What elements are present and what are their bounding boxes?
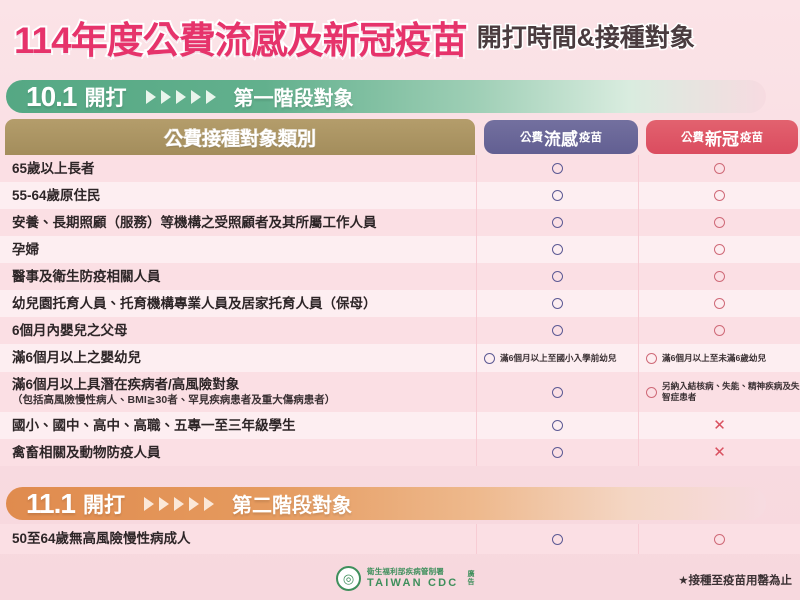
flu-suffix: 疫苗 <box>579 129 602 145</box>
cell-covid <box>638 317 800 344</box>
cell-category: 國小、國中、高中、高職、五專一至三年級學生 <box>0 418 476 434</box>
stage-2-arrows <box>144 497 214 511</box>
cell-flu <box>476 290 638 317</box>
column-header-category: 公費接種對象類別 <box>5 119 475 155</box>
footer: ◎ 衛生福利部疾病管制署 TAIWAN CDC 廣 告 ★接種至疫苗用罄為止 <box>0 560 800 600</box>
arrow-icon <box>191 90 201 104</box>
table-row: 孕婦 <box>0 236 800 263</box>
column-header-category-label: 公費接種對象類別 <box>164 124 316 151</box>
category-label: 國小、國中、高中、高職、五專一至三年級學生 <box>12 418 470 434</box>
arrow-icon <box>159 497 169 511</box>
table-row: 醫事及衛生防疫相關人員 <box>0 263 800 290</box>
ad-tag: 廣 告 <box>467 571 474 586</box>
stage-1-open-label: 開打 <box>85 82 127 112</box>
cell-covid <box>638 263 800 290</box>
title-subtitle: 開打時間&接種對象 <box>477 18 695 54</box>
cdc-logo-cn: 衛生福利部疾病管制署 <box>367 568 458 576</box>
table-row: 幼兒園托育人員、托育機構專業人員及居家托育人員（保母） <box>0 290 800 317</box>
category-label: 醫事及衛生防疫相關人員 <box>12 269 470 285</box>
cross-icon: ✕ <box>713 445 726 460</box>
cell-covid <box>638 524 800 554</box>
category-label: 孕婦 <box>12 242 470 258</box>
cross-icon: ✕ <box>713 418 726 433</box>
cell-covid: ✕ <box>638 439 800 466</box>
table-row: 安養、長期照顧（服務）等機構之受照顧者及其所屬工作人員 <box>0 209 800 236</box>
cell-flu <box>476 372 638 412</box>
circle-icon <box>714 325 725 336</box>
cell-note: 滿6個月以上至未滿6歲幼兒 <box>662 353 766 364</box>
circle-icon <box>552 271 563 282</box>
cell-flu <box>476 236 638 263</box>
cell-flu <box>476 209 638 236</box>
arrow-icon <box>204 497 214 511</box>
title-main: 114年度公費流感及新冠疫苗 <box>14 10 467 64</box>
category-label: 6個月內嬰兒之父母 <box>12 323 470 339</box>
cell-category: 6個月內嬰兒之父母 <box>0 323 476 339</box>
covid-emphasis: 新冠 <box>705 125 739 150</box>
table-row: 50至64歲無高風險慢性病成人 <box>0 524 800 554</box>
cell-covid <box>638 182 800 209</box>
cell-covid <box>638 209 800 236</box>
category-label: 幼兒園托育人員、托育機構專業人員及居家托育人員（保母） <box>12 296 470 312</box>
cell-covid <box>638 155 800 182</box>
arrow-icon <box>176 90 186 104</box>
circle-icon <box>714 190 725 201</box>
category-label: 滿6個月以上之嬰幼兒 <box>12 350 470 366</box>
circle-icon <box>552 447 563 458</box>
cell-covid: 滿6個月以上至未滿6歲幼兒 <box>638 344 800 372</box>
cell-category: 65歲以上長者 <box>0 161 476 177</box>
cell-flu <box>476 412 638 439</box>
stage-1-phase-label: 第一階段對象 <box>234 82 354 111</box>
cdc-logo-en: TAIWAN CDC <box>367 577 458 589</box>
table-body-stage-1: 65歲以上長者55-64歲原住民安養、長期照顧（服務）等機構之受照顧者及其所屬工… <box>0 155 800 466</box>
column-header-covid: 公費 新冠 疫苗 <box>646 120 798 154</box>
table-row: 滿6個月以上具潛在疾病者/高風險對象（包括高風險慢性病人、BMI≧30者、罕見疾… <box>0 372 800 412</box>
stage-2-phase-label: 第二階段對象 <box>232 489 352 518</box>
cell-flu <box>476 524 638 554</box>
circle-icon <box>714 534 725 545</box>
arrow-icon <box>144 497 154 511</box>
category-label: 65歲以上長者 <box>12 161 470 177</box>
arrow-icon <box>206 90 216 104</box>
circle-icon <box>714 271 725 282</box>
circle-icon <box>552 325 563 336</box>
page-title: 114年度公費流感及新冠疫苗 開打時間&接種對象 <box>0 8 800 66</box>
stage-1-arrows <box>146 90 216 104</box>
cell-covid: 另納入結核病、失能、精神疾病及失智症患者 <box>638 372 800 412</box>
covid-prefix: 公費 <box>681 129 704 145</box>
category-label: 安養、長期照顧（服務）等機構之受照顧者及其所屬工作人員 <box>12 215 470 231</box>
table-row: 55-64歲原住民 <box>0 182 800 209</box>
ad-tag-line2: 告 <box>467 579 474 586</box>
cell-flu <box>476 263 638 290</box>
table-body-stage-2: 50至64歲無高風險慢性病成人 <box>0 524 800 554</box>
circle-icon <box>714 244 725 255</box>
footnote: ★接種至疫苗用罄為止 <box>678 572 792 588</box>
circle-icon <box>552 420 563 431</box>
stage-2-banner: 11.1 開打 第二階段對象 <box>6 487 766 520</box>
circle-icon <box>552 163 563 174</box>
covid-suffix: 疫苗 <box>740 129 763 145</box>
category-label: 滿6個月以上具潛在疾病者/高風險對象 <box>12 377 470 393</box>
cell-category: 禽畜相關及動物防疫人員 <box>0 445 476 461</box>
table-row: 國小、國中、高中、高職、五專一至三年級學生✕ <box>0 412 800 439</box>
cell-covid: ✕ <box>638 412 800 439</box>
arrow-icon <box>189 497 199 511</box>
table-row: 65歲以上長者 <box>0 155 800 182</box>
category-label: 禽畜相關及動物防疫人員 <box>12 445 470 461</box>
cell-flu <box>476 182 638 209</box>
cell-note: 滿6個月以上至國小入學前幼兒 <box>500 353 617 364</box>
circle-icon <box>552 244 563 255</box>
circle-icon <box>646 387 657 398</box>
cell-category: 孕婦 <box>0 242 476 258</box>
arrow-icon <box>174 497 184 511</box>
circle-icon <box>552 217 563 228</box>
flu-emphasis: 流感 <box>544 125 578 150</box>
cell-category: 幼兒園托育人員、托育機構專業人員及居家托育人員（保母） <box>0 296 476 312</box>
category-sublabel: （包括高風險慢性病人、BMI≧30者、罕見疾病患者及重大傷病患者） <box>12 394 470 407</box>
cell-category: 55-64歲原住民 <box>0 188 476 204</box>
flu-prefix: 公費 <box>520 129 543 145</box>
cell-flu <box>476 317 638 344</box>
table-row: 禽畜相關及動物防疫人員✕ <box>0 439 800 466</box>
cdc-logo-text: 衛生福利部疾病管制署 TAIWAN CDC <box>367 568 458 588</box>
cell-category: 安養、長期照顧（服務）等機構之受照顧者及其所屬工作人員 <box>0 215 476 231</box>
circle-icon <box>484 353 495 364</box>
circle-icon <box>646 353 657 364</box>
circle-icon <box>552 190 563 201</box>
circle-icon <box>714 163 725 174</box>
cell-category: 滿6個月以上之嬰幼兒 <box>0 350 476 366</box>
circle-icon <box>552 534 563 545</box>
cell-covid <box>638 236 800 263</box>
ad-tag-line1: 廣 <box>467 571 474 578</box>
circle-icon <box>714 298 725 309</box>
category-label: 50至64歲無高風險慢性病成人 <box>12 531 470 547</box>
table-row: 滿6個月以上之嬰幼兒滿6個月以上至國小入學前幼兒滿6個月以上至未滿6歲幼兒 <box>0 344 800 372</box>
table-row: 6個月內嬰兒之父母 <box>0 317 800 344</box>
stage-2-date: 11.1 <box>26 488 75 520</box>
cdc-logo-icon: ◎ <box>336 566 361 591</box>
cell-flu: 滿6個月以上至國小入學前幼兒 <box>476 344 638 372</box>
cell-note: 另納入結核病、失能、精神疾病及失智症患者 <box>662 381 800 402</box>
cell-covid <box>638 290 800 317</box>
cell-flu <box>476 155 638 182</box>
cell-category: 醫事及衛生防疫相關人員 <box>0 269 476 285</box>
cell-category: 滿6個月以上具潛在疾病者/高風險對象（包括高風險慢性病人、BMI≧30者、罕見疾… <box>0 377 476 407</box>
cell-flu <box>476 439 638 466</box>
arrow-icon <box>146 90 156 104</box>
circle-icon <box>714 217 725 228</box>
category-label: 55-64歲原住民 <box>12 188 470 204</box>
stage-1-date: 10.1 <box>26 81 77 113</box>
table-header: 公費接種對象類別 公費 流感 疫苗 公費 新冠 疫苗 <box>0 119 800 155</box>
column-header-flu: 公費 流感 疫苗 <box>484 120 638 154</box>
arrow-icon <box>161 90 171 104</box>
cell-category: 50至64歲無高風險慢性病成人 <box>0 531 476 547</box>
circle-icon <box>552 298 563 309</box>
circle-icon <box>552 387 563 398</box>
stage-2-open-label: 開打 <box>83 489 125 519</box>
stage-1-banner: 10.1 開打 第一階段對象 <box>6 80 766 113</box>
cdc-logo: ◎ 衛生福利部疾病管制署 TAIWAN CDC 廣 告 <box>336 566 474 591</box>
